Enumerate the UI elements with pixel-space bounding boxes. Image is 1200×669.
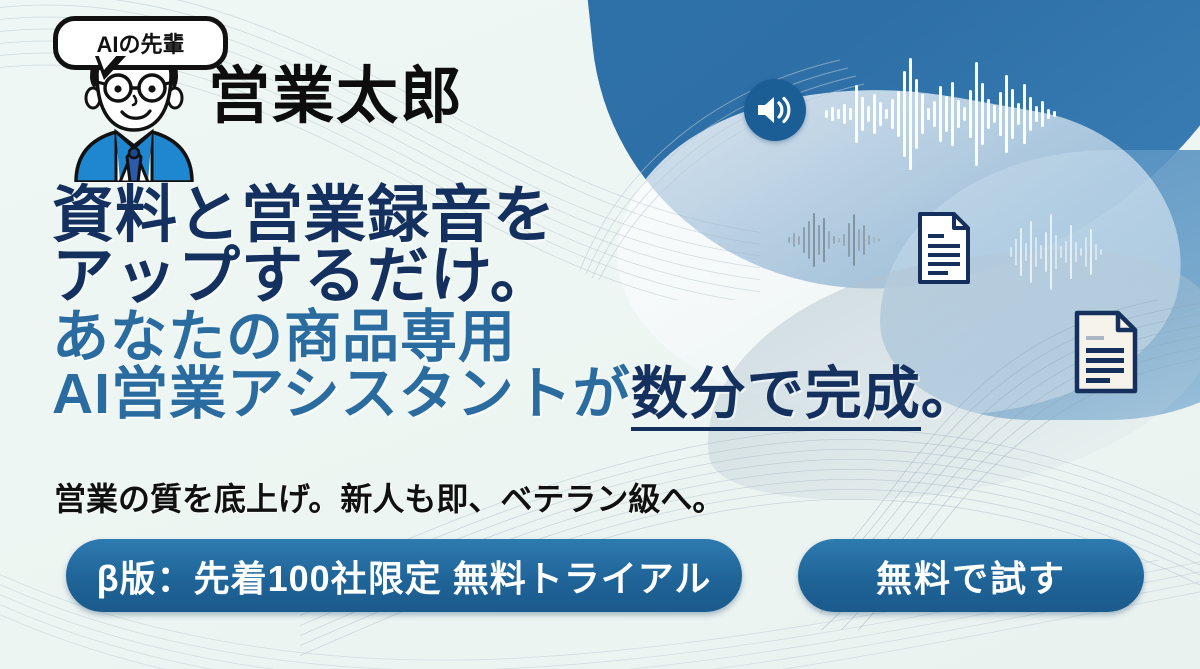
headline-line-4: AI営業アシスタントが数分で完成。 <box>52 367 1062 423</box>
flow-lines-center <box>300 400 1200 669</box>
headline-emphasis: 数分で完成 <box>631 362 921 431</box>
hero-banner: AIの先輩 営業太郎 資料と営業録音を アップするだけ。 あなたの商品専用 AI… <box>0 0 1200 669</box>
headline-line-4-prefix: AI営業アシスタント <box>52 362 573 426</box>
headline-block: 資料と営業録音を アップするだけ。 あなたの商品専用 AI営業アシスタントが数分… <box>52 186 1062 423</box>
audio-waveform-white <box>825 55 1056 173</box>
headline-line-4-suffix: 。 <box>921 362 979 426</box>
speaker-volume-icon <box>744 79 806 141</box>
headline-line-3: あなたの商品専用 <box>52 310 1062 366</box>
document-glyph <box>1072 308 1140 396</box>
headline-line-2: アップするだけ。 <box>52 247 1062 308</box>
secondary-cta-button[interactable]: 無料で試す <box>798 539 1144 612</box>
brand-name: 営業太郎 <box>208 66 464 128</box>
headline-line-4-particle: が <box>573 362 631 426</box>
primary-cta-button[interactable]: β版：先着100社限定 無料トライアル <box>66 539 742 612</box>
primary-cta-label: β版：先着100社限定 無料トライアル <box>97 550 712 602</box>
headline-line-1: 資料と営業録音を <box>52 186 1062 247</box>
speech-bubble-tail-inner <box>98 54 118 70</box>
speaker-glyph <box>756 94 794 126</box>
document-icon-2 <box>1072 308 1140 401</box>
speech-bubble: AIの先輩 <box>53 16 228 70</box>
subheadline: 営業の質を底上げ。新人も即、ベテラン級へ。 <box>54 474 724 520</box>
secondary-cta-label: 無料で試す <box>876 550 1066 602</box>
